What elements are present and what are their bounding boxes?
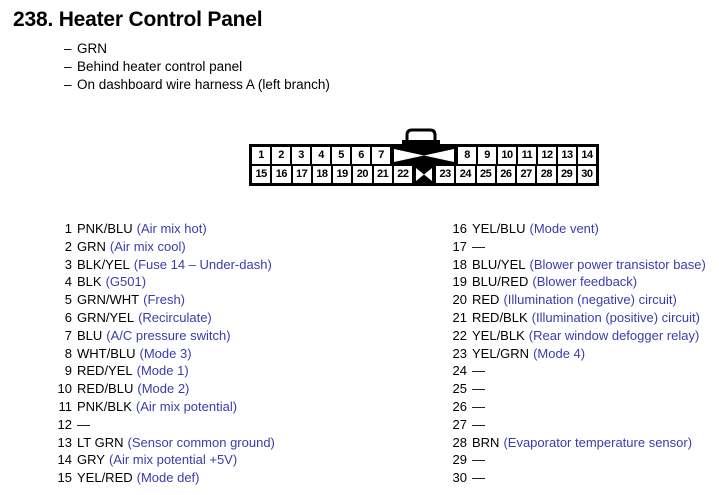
pin-cell-4: 4 bbox=[312, 147, 330, 164]
pin-description: (Recirculate) bbox=[138, 309, 212, 327]
pin-row: 24— bbox=[447, 362, 706, 380]
pin-row: 9RED/YEL(Mode 1) bbox=[52, 362, 275, 380]
pin-description: (Mode vent) bbox=[529, 220, 598, 238]
pin-number: 9 bbox=[52, 362, 72, 380]
pin-cell-25: 25 bbox=[477, 166, 495, 183]
pin-wire-color: LT GRN bbox=[77, 434, 123, 452]
pin-row: 26— bbox=[447, 398, 706, 416]
pin-row: 8WHT/BLU(Mode 3) bbox=[52, 345, 275, 363]
pin-row: 10RED/BLU(Mode 2) bbox=[52, 380, 275, 398]
pin-cell-2: 2 bbox=[272, 147, 290, 164]
pin-row: 1PNK/BLU(Air mix hot) bbox=[52, 220, 275, 238]
pin-unused-marker: — bbox=[472, 398, 485, 416]
pin-cell-14: 14 bbox=[578, 147, 596, 164]
pin-number: 7 bbox=[52, 327, 72, 345]
connector-top-row: 1 2 3 4 5 6 7 8 9 10 11 12 13 14 bbox=[252, 147, 596, 164]
pin-description: (Fuse 14 – Under-dash) bbox=[134, 256, 272, 274]
pin-cell-18: 18 bbox=[313, 166, 331, 183]
pin-row: 4BLK(G501) bbox=[52, 273, 275, 291]
pin-number: 2 bbox=[52, 238, 72, 256]
pin-row: 6GRN/YEL(Recirculate) bbox=[52, 309, 275, 327]
pin-number: 28 bbox=[447, 434, 467, 452]
pin-number: 27 bbox=[447, 416, 467, 434]
blocked-pin-icon bbox=[414, 166, 434, 183]
pin-unused-marker: — bbox=[472, 380, 485, 398]
pin-description: (Fresh) bbox=[143, 291, 185, 309]
pin-wire-color: RED/BLU bbox=[77, 380, 133, 398]
pin-cell-10: 10 bbox=[498, 147, 516, 164]
pin-wire-color: YEL/BLK bbox=[472, 327, 525, 345]
pin-number: 23 bbox=[447, 345, 467, 363]
pin-wire-color: BLK bbox=[77, 273, 102, 291]
pin-wire-color: BLU/RED bbox=[472, 273, 528, 291]
pin-cell-28: 28 bbox=[537, 166, 555, 183]
pin-row: 30— bbox=[447, 469, 706, 487]
pin-number: 4 bbox=[52, 273, 72, 291]
pin-number: 21 bbox=[447, 309, 467, 327]
pin-wire-color: BRN bbox=[472, 434, 499, 452]
pin-wire-color: BLU bbox=[77, 327, 102, 345]
pin-number: 1 bbox=[52, 220, 72, 238]
pin-row: 28BRN(Evaporator temperature sensor) bbox=[447, 434, 706, 452]
pin-wire-color: RED/BLK bbox=[472, 309, 528, 327]
pin-row: 21RED/BLK(Illumination (positive) circui… bbox=[447, 309, 706, 327]
pin-number: 22 bbox=[447, 327, 467, 345]
description-item: – Behind heater control panel bbox=[64, 58, 330, 76]
pin-description: (Air mix hot) bbox=[137, 220, 207, 238]
pin-cell-9: 9 bbox=[478, 147, 496, 164]
pin-description: (Air mix cool) bbox=[110, 238, 186, 256]
pin-number: 16 bbox=[447, 220, 467, 238]
pin-cell-26: 26 bbox=[497, 166, 515, 183]
pin-unused-marker: — bbox=[472, 416, 485, 434]
pin-description: (Mode 1) bbox=[137, 362, 189, 380]
pin-wire-color: YEL/GRN bbox=[472, 345, 529, 363]
pin-unused-marker: — bbox=[472, 238, 485, 256]
pin-cell-29: 29 bbox=[558, 166, 576, 183]
blocked-pins-icon bbox=[392, 147, 456, 164]
pin-description: (Rear window defogger relay) bbox=[529, 327, 700, 345]
pin-row: 19BLU/RED(Blower feedback) bbox=[447, 273, 706, 291]
pin-number: 25 bbox=[447, 380, 467, 398]
pin-cell-12: 12 bbox=[538, 147, 556, 164]
pin-row: 18BLU/YEL(Blower power transistor base) bbox=[447, 256, 706, 274]
pin-number: 13 bbox=[52, 434, 72, 452]
pin-wire-color: BLU/YEL bbox=[472, 256, 525, 274]
pin-description: (A/C pressure switch) bbox=[106, 327, 230, 345]
pin-number: 15 bbox=[52, 469, 72, 487]
pin-row: 23YEL/GRN(Mode 4) bbox=[447, 345, 706, 363]
pin-description: (Sensor common ground) bbox=[127, 434, 274, 452]
pin-number: 20 bbox=[447, 291, 467, 309]
pin-row: 14GRY(Air mix potential +5V) bbox=[52, 451, 275, 469]
pin-description: (Blower power transistor base) bbox=[529, 256, 705, 274]
dash-bullet: – bbox=[64, 58, 77, 76]
dash-bullet: – bbox=[64, 40, 77, 58]
pin-cell-6: 6 bbox=[352, 147, 370, 164]
pin-unused-marker: — bbox=[77, 416, 90, 434]
pin-wire-color: GRN/YEL bbox=[77, 309, 134, 327]
pin-cell-24: 24 bbox=[456, 166, 474, 183]
description-list: – GRN – Behind heater control panel – On… bbox=[64, 40, 330, 94]
pin-wire-color: WHT/BLU bbox=[77, 345, 136, 363]
pin-description: (Air mix potential) bbox=[136, 398, 237, 416]
pin-row: 22YEL/BLK(Rear window defogger relay) bbox=[447, 327, 706, 345]
latch-tab-icon bbox=[401, 127, 441, 145]
pin-wire-color: RED bbox=[472, 291, 499, 309]
pin-number: 24 bbox=[447, 362, 467, 380]
pin-description: (Mode 3) bbox=[140, 345, 192, 363]
description-item: – On dashboard wire harness A (left bran… bbox=[64, 76, 330, 94]
pin-description: (Air mix potential +5V) bbox=[109, 451, 237, 469]
pin-number: 6 bbox=[52, 309, 72, 327]
pin-description: (Illumination (negative) circuit) bbox=[503, 291, 676, 309]
pin-number: 17 bbox=[447, 238, 467, 256]
pin-row: 20RED(Illumination (negative) circuit) bbox=[447, 291, 706, 309]
pin-number: 11 bbox=[52, 398, 72, 416]
pin-row: 7BLU(A/C pressure switch) bbox=[52, 327, 275, 345]
pin-cell-13: 13 bbox=[558, 147, 576, 164]
pin-number: 12 bbox=[52, 416, 72, 434]
pin-row: 17— bbox=[447, 238, 706, 256]
pin-cell-20: 20 bbox=[353, 166, 371, 183]
pin-number: 26 bbox=[447, 398, 467, 416]
pin-cell-19: 19 bbox=[333, 166, 351, 183]
pin-number: 19 bbox=[447, 273, 467, 291]
pin-description: (Mode def) bbox=[137, 469, 200, 487]
pin-cell-27: 27 bbox=[517, 166, 535, 183]
dash-bullet: – bbox=[64, 76, 77, 94]
pin-description: (Blower feedback) bbox=[532, 273, 637, 291]
pin-cell-17: 17 bbox=[293, 166, 311, 183]
pin-row: 29— bbox=[447, 451, 706, 469]
page-title: 238. Heater Control Panel bbox=[13, 8, 262, 32]
pin-cell-15: 15 bbox=[252, 166, 270, 183]
pin-number: 29 bbox=[447, 451, 467, 469]
pin-unused-marker: — bbox=[472, 451, 485, 469]
pin-row: 27— bbox=[447, 416, 706, 434]
pin-wire-color: YEL/RED bbox=[77, 469, 133, 487]
pin-wire-color: GRY bbox=[77, 451, 105, 469]
pin-row: 16YEL/BLU(Mode vent) bbox=[447, 220, 706, 238]
pin-row: 11PNK/BLK(Air mix potential) bbox=[52, 398, 275, 416]
pin-description: (Illumination (positive) circuit) bbox=[532, 309, 700, 327]
pin-wire-color: YEL/BLU bbox=[472, 220, 525, 238]
pin-description: (G501) bbox=[106, 273, 146, 291]
pin-number: 30 bbox=[447, 469, 467, 487]
pin-cell-5: 5 bbox=[332, 147, 350, 164]
description-text: On dashboard wire harness A (left branch… bbox=[77, 76, 330, 94]
pin-cell-22: 22 bbox=[394, 166, 412, 183]
pin-cell-11: 11 bbox=[518, 147, 536, 164]
pin-cell-1: 1 bbox=[252, 147, 270, 164]
pin-cell-30: 30 bbox=[578, 166, 596, 183]
pin-number: 8 bbox=[52, 345, 72, 363]
pin-description: (Evaporator temperature sensor) bbox=[503, 434, 692, 452]
pin-cell-3: 3 bbox=[292, 147, 310, 164]
pin-wire-color: PNK/BLK bbox=[77, 398, 132, 416]
connector-pin-grid: 1 2 3 4 5 6 7 8 9 10 11 12 13 14 15 16 1… bbox=[249, 144, 599, 186]
connector-bottom-row: 15 16 17 18 19 20 21 22 23 24 25 26 27 2… bbox=[252, 166, 596, 183]
description-text: Behind heater control panel bbox=[77, 58, 242, 76]
pin-list-left: 1PNK/BLU(Air mix hot)2GRN(Air mix cool)3… bbox=[52, 220, 275, 487]
pin-number: 3 bbox=[52, 256, 72, 274]
pin-number: 18 bbox=[447, 256, 467, 274]
pin-wire-color: RED/YEL bbox=[77, 362, 133, 380]
pin-number: 5 bbox=[52, 291, 72, 309]
pin-row: 15YEL/RED(Mode def) bbox=[52, 469, 275, 487]
description-item: – GRN bbox=[64, 40, 330, 58]
pin-row: 5GRN/WHT(Fresh) bbox=[52, 291, 275, 309]
pin-list-right: 16YEL/BLU(Mode vent)17—18BLU/YEL(Blower … bbox=[447, 220, 706, 487]
pin-row: 3BLK/YEL(Fuse 14 – Under-dash) bbox=[52, 256, 275, 274]
pin-cell-7: 7 bbox=[372, 147, 390, 164]
pin-row: 12— bbox=[52, 416, 275, 434]
pin-number: 14 bbox=[52, 451, 72, 469]
pin-cell-16: 16 bbox=[272, 166, 290, 183]
pin-cell-23: 23 bbox=[436, 166, 454, 183]
pin-description: (Mode 4) bbox=[533, 345, 585, 363]
pin-wire-color: GRN bbox=[77, 238, 106, 256]
description-text: GRN bbox=[77, 40, 107, 58]
pin-row: 13LT GRN(Sensor common ground) bbox=[52, 434, 275, 452]
pin-row: 2GRN(Air mix cool) bbox=[52, 238, 275, 256]
pin-unused-marker: — bbox=[472, 362, 485, 380]
pin-row: 25— bbox=[447, 380, 706, 398]
pin-number: 10 bbox=[52, 380, 72, 398]
pin-cell-21: 21 bbox=[374, 166, 392, 183]
pin-unused-marker: — bbox=[472, 469, 485, 487]
pin-wire-color: BLK/YEL bbox=[77, 256, 130, 274]
pin-wire-color: GRN/WHT bbox=[77, 291, 139, 309]
pin-description: (Mode 2) bbox=[137, 380, 189, 398]
pin-wire-color: PNK/BLU bbox=[77, 220, 133, 238]
pin-cell-8: 8 bbox=[458, 147, 476, 164]
